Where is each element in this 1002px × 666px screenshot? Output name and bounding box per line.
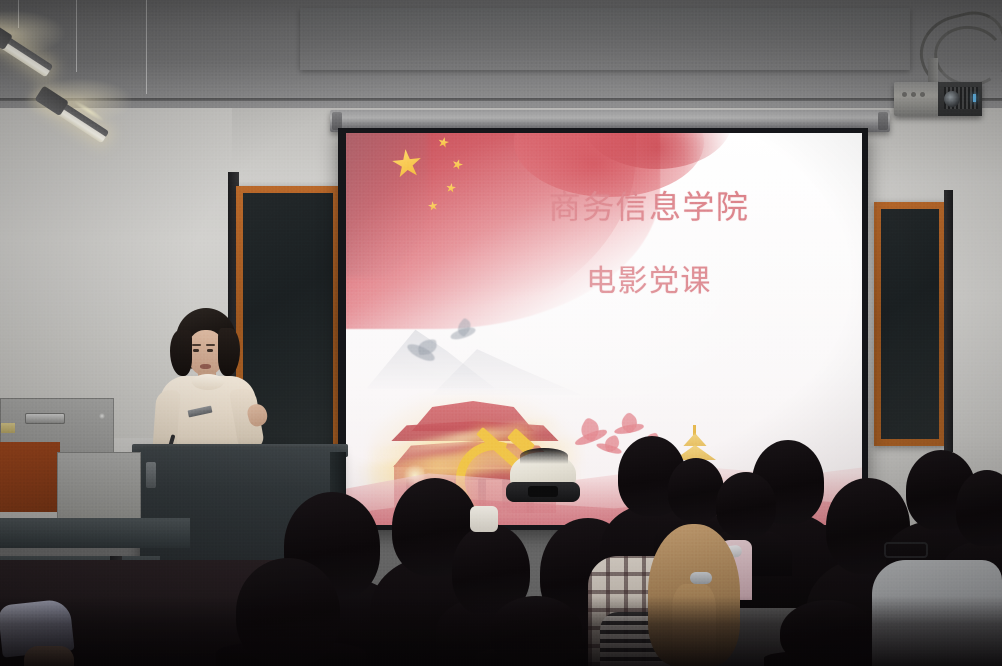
- ceiling: [0, 0, 1002, 112]
- wood-panel: [0, 442, 60, 512]
- console-label-tag: [1, 423, 15, 433]
- projector-status-led: [973, 94, 976, 102]
- glasses-icon: [884, 542, 928, 558]
- audience-head: [716, 472, 776, 538]
- ceiling-edge-line: [0, 98, 1002, 101]
- pagoda-spire: [693, 425, 696, 435]
- slide-subtitle: 电影党课: [464, 267, 834, 297]
- hair-tie: [690, 572, 712, 584]
- gray-jacket-person: [872, 560, 1002, 666]
- lecture-hall-photo: 商务信息学院 电影党课: [0, 0, 1002, 666]
- blonde-ponytail: [672, 584, 716, 666]
- presenter-hair-side: [218, 328, 240, 376]
- presenter-collar: [192, 374, 224, 390]
- desk-surface: [0, 518, 190, 548]
- presenter-hair-side: [170, 330, 192, 376]
- housing-end-cap: [878, 112, 888, 130]
- audience-head: [490, 596, 582, 666]
- seated-person-head: [24, 646, 74, 666]
- audience-head: [236, 558, 340, 666]
- console-screw: [99, 413, 105, 419]
- blackboard-right: [874, 202, 946, 446]
- light-wire: [18, 0, 19, 28]
- slide-text-block: 商务信息学院 电影党课: [464, 191, 834, 297]
- light-wire: [76, 0, 77, 72]
- wall-column-edge-right: [944, 190, 953, 452]
- projector: [894, 82, 982, 116]
- ceiling-beam: [300, 8, 910, 70]
- pagoda-roof: [678, 433, 712, 446]
- light-wire: [146, 0, 147, 94]
- presenter-mouth: [200, 364, 211, 369]
- cap-strap: [528, 486, 558, 497]
- audience-white-garment: [470, 506, 498, 532]
- baseball-cap: [506, 452, 580, 504]
- presenter-eyebrows: [192, 344, 201, 346]
- projector-lens-icon: [944, 91, 960, 107]
- audience-head: [780, 600, 876, 666]
- presenter-eyes: [193, 349, 199, 352]
- console-slot[interactable]: [25, 413, 65, 424]
- slide-title: 商务信息学院: [464, 191, 834, 223]
- podium-clip: [146, 462, 156, 488]
- blackboard-surface: [881, 209, 939, 439]
- equipment-cabinet: [57, 452, 141, 522]
- projector-buttons[interactable]: [902, 92, 907, 97]
- cap-top-shade: [520, 448, 568, 464]
